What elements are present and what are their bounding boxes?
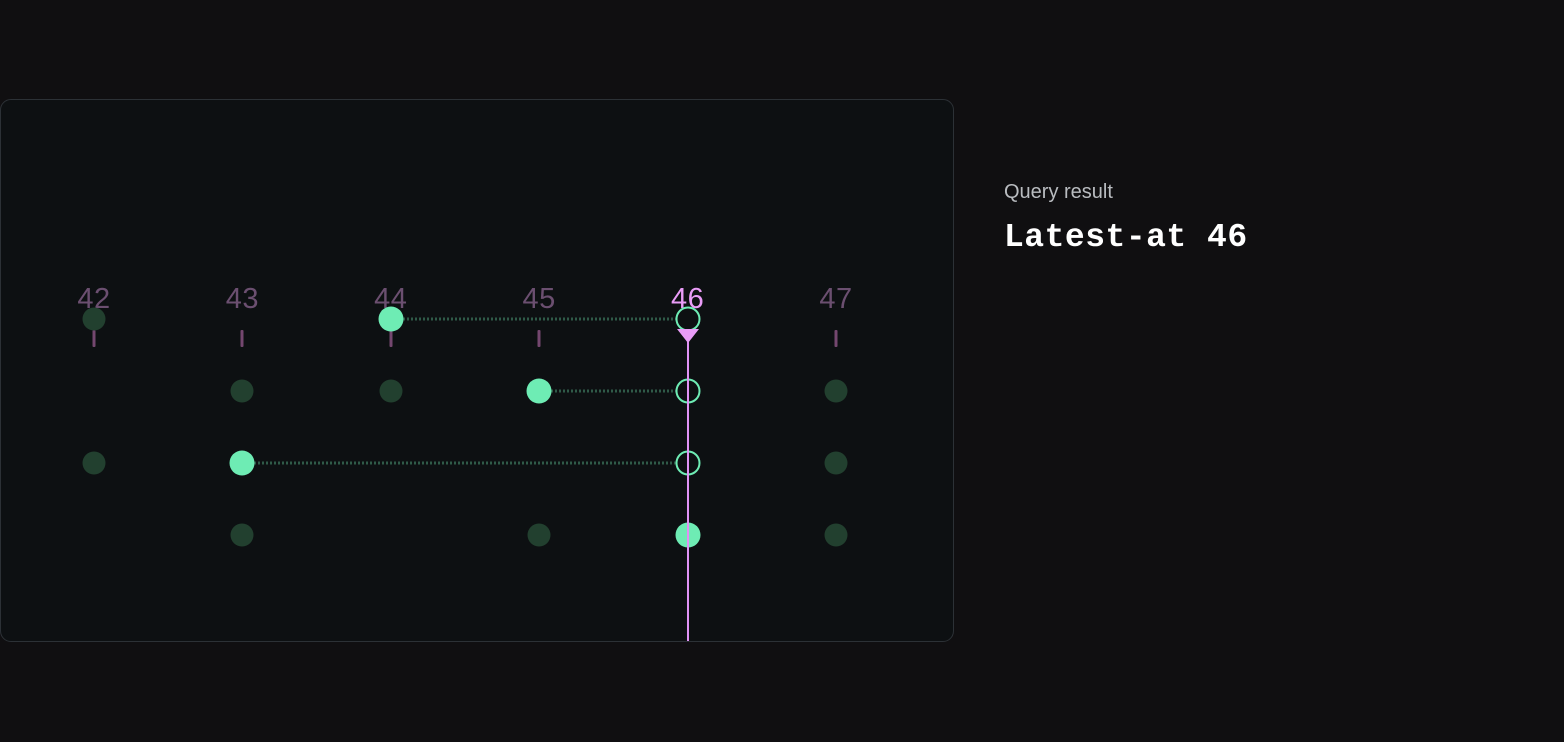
data-point-dim[interactable] [825,380,848,403]
query-result-caption: Query result [1004,178,1524,206]
data-point-dim[interactable] [83,452,106,475]
data-point-dim[interactable] [379,380,402,403]
data-point-dim[interactable] [825,452,848,475]
query-time-line[interactable] [687,336,689,641]
data-point-dim[interactable] [825,524,848,547]
data-point-bright[interactable] [378,307,403,332]
axis-tick-mark-47 [835,330,838,347]
data-point-bright[interactable] [527,379,552,404]
axis-tick-mark-44 [389,330,392,347]
latest-at-connector [391,318,688,321]
axis-tick-mark-42 [93,330,96,347]
query-result-panel: Query result Latest-at 46 [1004,178,1524,258]
query-result-marker[interactable] [675,307,700,332]
screen-root: 424344454647 Query result Latest-at 46 [0,0,1564,742]
data-point-dim[interactable] [83,308,106,331]
axis-tick-mark-45 [538,330,541,347]
data-point-dim[interactable] [231,380,254,403]
query-time-handle-icon[interactable] [677,329,699,343]
axis-tick-label-43: 43 [226,280,259,318]
axis-tick-mark-43 [241,330,244,347]
latest-at-connector [539,390,687,393]
axis-tick-label-45: 45 [523,280,556,318]
data-point-dim[interactable] [528,524,551,547]
query-result-value: Latest-at 46 [1004,218,1524,258]
data-point-dim[interactable] [231,524,254,547]
latest-at-connector [242,462,687,465]
data-point-bright[interactable] [230,451,255,476]
axis-tick-label-47: 47 [819,280,852,318]
timeline-panel: 424344454647 [0,99,954,642]
